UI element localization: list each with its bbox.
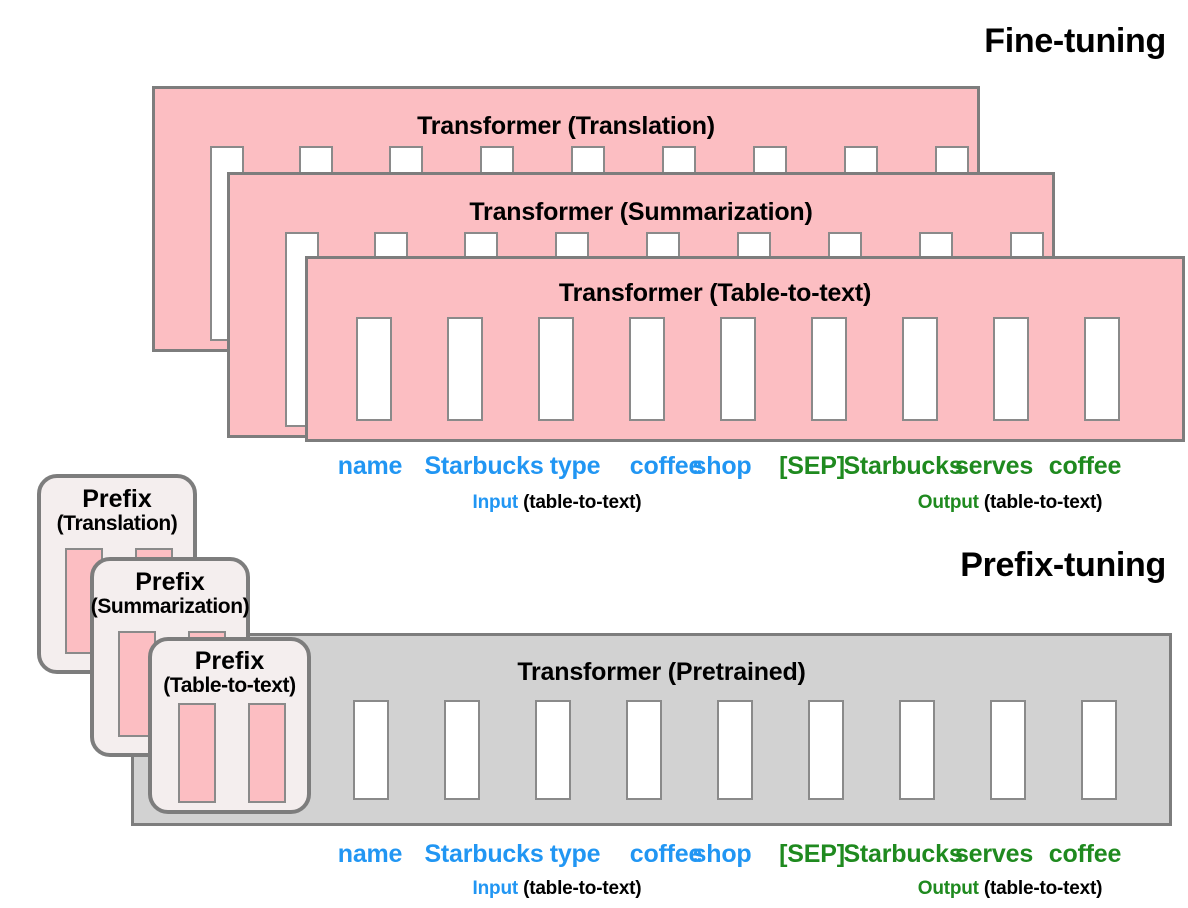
sequence-token: coffee [630, 452, 702, 481]
sequence-token: [SEP] [779, 840, 845, 869]
sequence-token: shop [693, 840, 752, 869]
sequence-token: shop [693, 452, 752, 481]
token-cell [1081, 700, 1117, 800]
sequence-token: Starbucks [843, 452, 962, 481]
prefix-bar [178, 703, 216, 803]
prefix-bar [248, 703, 286, 803]
fine-tuning-title: Fine-tuning [984, 22, 1166, 61]
token-cell [353, 700, 389, 800]
sequence-token: Starbucks [424, 840, 543, 869]
prefix-card-translation-title: Prefix (Translation) [41, 487, 193, 534]
sequence-token: [SEP] [779, 452, 845, 481]
output-caption-fine-tuning: Output (table-to-text) [918, 492, 1103, 514]
sequence-token: type [550, 452, 601, 481]
output-caption-prefix-tuning: Output (table-to-text) [918, 878, 1103, 900]
prefix-card-summarization-title: Prefix (Summarization) [86, 570, 254, 617]
transformer-slab-summarization-label: Transformer (Summarization) [230, 198, 1052, 227]
caption-rest: (table-to-text) [518, 878, 641, 899]
sequence-token: serves [955, 452, 1033, 481]
caption-rest: (table-to-text) [518, 492, 641, 513]
input-caption-prefix-tuning: Input (table-to-text) [473, 878, 642, 900]
prefix-card-table-to-text-line2: (Table-to-text) [146, 675, 313, 696]
transformer-slab-table-to-text-label: Transformer (Table-to-text) [308, 279, 1122, 308]
token-sequence-fine-tuning: nameStarbuckstypecoffeeshop[SEP]Starbuck… [335, 452, 1165, 482]
prefix-tuning-title: Prefix-tuning [960, 546, 1166, 585]
token-cell [356, 317, 392, 421]
sequence-token: coffee [630, 840, 702, 869]
token-cell [447, 317, 483, 421]
prefix-card-translation-line1: Prefix [41, 487, 193, 513]
prefix-card-summarization-line1: Prefix [86, 570, 254, 596]
token-cell [899, 700, 935, 800]
token-cell [717, 700, 753, 800]
token-cell [808, 700, 844, 800]
prefix-card-table-to-text-line1: Prefix [146, 649, 313, 675]
caption-key: Input [473, 492, 518, 513]
prefix-card-table-to-text: Prefix (Table-to-text) [148, 637, 311, 814]
prefix-card-table-to-text-title: Prefix (Table-to-text) [146, 649, 313, 696]
caption-rest: (table-to-text) [979, 878, 1102, 899]
input-caption-fine-tuning: Input (table-to-text) [473, 492, 642, 514]
token-cell [535, 700, 571, 800]
token-cell [902, 317, 938, 421]
sequence-token: serves [955, 840, 1033, 869]
token-cell [990, 700, 1026, 800]
caption-rest: (table-to-text) [979, 492, 1102, 513]
caption-key: Output [918, 492, 979, 513]
transformer-slab-table-to-text: Transformer (Table-to-text) [305, 256, 1185, 442]
sequence-token: type [550, 840, 601, 869]
token-cell [629, 317, 665, 421]
caption-key: Input [473, 878, 518, 899]
prefix-card-summarization-line2: (Summarization) [86, 596, 254, 617]
token-cell [538, 317, 574, 421]
token-cell [626, 700, 662, 800]
token-cell [720, 317, 756, 421]
token-sequence-prefix-tuning: nameStarbuckstypecoffeeshop[SEP]Starbuck… [335, 840, 1165, 870]
token-cell [993, 317, 1029, 421]
sequence-token: name [338, 840, 403, 869]
transformer-slab-translation-label: Transformer (Translation) [155, 112, 977, 141]
sequence-token: coffee [1049, 452, 1121, 481]
prefix-card-translation-line2: (Translation) [41, 513, 193, 534]
figure-canvas: Fine-tuning Transformer (Translation) Tr… [0, 0, 1188, 908]
transformer-slab-pretrained-label: Transformer (Pretrained) [334, 658, 989, 687]
token-cell [811, 317, 847, 421]
token-cell [444, 700, 480, 800]
sequence-token: Starbucks [424, 452, 543, 481]
sequence-token: Starbucks [843, 840, 962, 869]
caption-key: Output [918, 878, 979, 899]
sequence-token: name [338, 452, 403, 481]
token-cell [1084, 317, 1120, 421]
sequence-token: coffee [1049, 840, 1121, 869]
